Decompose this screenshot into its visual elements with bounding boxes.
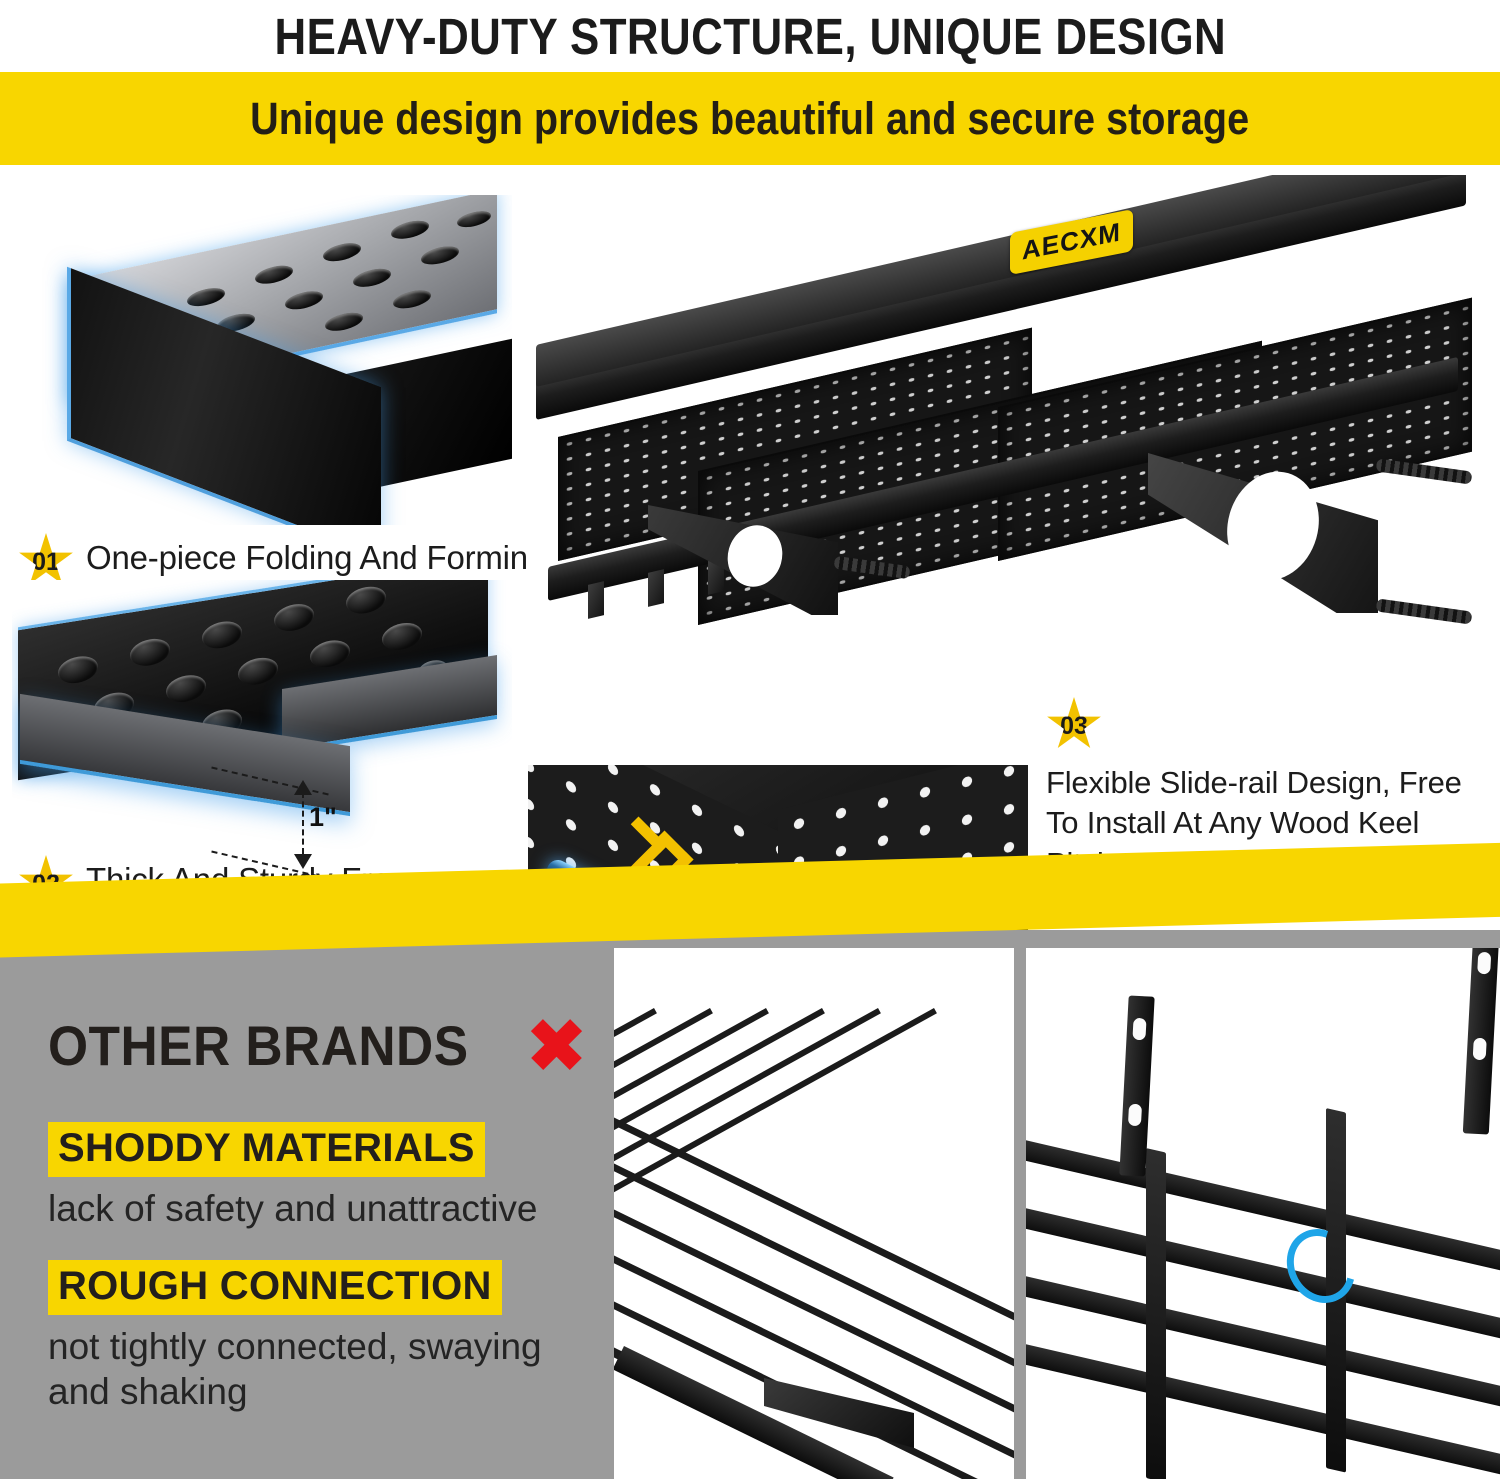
photo-thick-frame: 1" [12, 580, 512, 895]
comparison-item-2: ROUGH CONNECTION not tightly connected, … [48, 1260, 608, 1414]
mesh-wire [614, 1236, 1014, 1470]
dimension-label: 1" [309, 802, 337, 833]
rack-bar [1026, 1342, 1500, 1478]
features-section: 01 One-piece Folding And Forming [0, 165, 1500, 930]
comparison-item-1-title: SHODDY MATERIALS [48, 1122, 485, 1177]
subtitle-text: Unique design provides beautiful and sec… [250, 93, 1249, 145]
rack-hook [648, 569, 664, 607]
comparison-heading: OTHER BRANDS [48, 1012, 589, 1078]
photo-c-channel-profile [12, 195, 512, 525]
feature-number-03: 03 [1060, 712, 1088, 741]
subtitle-banner: Unique design provides beautiful and sec… [0, 72, 1500, 165]
rack-hook [588, 581, 604, 619]
wall-anchor [1376, 598, 1473, 624]
star-badge-icon: 03 [1046, 697, 1102, 753]
rack-cross-bar [1146, 1148, 1166, 1479]
comparison-item-2-description: not tightly connected, swaying and shaki… [48, 1324, 608, 1414]
page-title: HEAVY-DUTY STRUCTURE, UNIQUE DESIGN [0, 0, 1500, 72]
comparison-section: OTHER BRANDS SHODDY MATERIALS lack of sa… [0, 930, 1500, 1479]
infographic-page: HEAVY-DUTY STRUCTURE, UNIQUE DESIGN Uniq… [0, 0, 1500, 1479]
wall-mount-bracket-right [1463, 948, 1499, 1135]
comparison-item-1: SHODDY MATERIALS lack of safety and unat… [48, 1122, 538, 1231]
mesh-wire [614, 1098, 1014, 1332]
dimension-line [302, 792, 304, 854]
rack-bar [1026, 1138, 1500, 1274]
page-title-text: HEAVY-DUTY STRUCTURE, UNIQUE DESIGN [274, 7, 1226, 66]
mesh-wire [614, 1144, 1014, 1378]
photo-wire-mesh-shelf [614, 948, 1014, 1479]
c-channel-illustration [12, 195, 512, 525]
photo-main-rack: AECXM [528, 175, 1488, 735]
rack-bar [1026, 1274, 1500, 1410]
red-x-icon [523, 1012, 589, 1078]
rack-bar [1026, 1206, 1500, 1342]
feature-number-01: 01 [32, 548, 60, 577]
comparison-heading-text: OTHER BRANDS [48, 1013, 469, 1078]
feature-label-01: One-piece Folding And Forming [86, 533, 546, 578]
comparison-item-2-title: ROUGH CONNECTION [48, 1260, 502, 1315]
photo-flatbar-rack [1026, 948, 1500, 1479]
comparison-item-1-description: lack of safety and unattractive [48, 1186, 538, 1231]
